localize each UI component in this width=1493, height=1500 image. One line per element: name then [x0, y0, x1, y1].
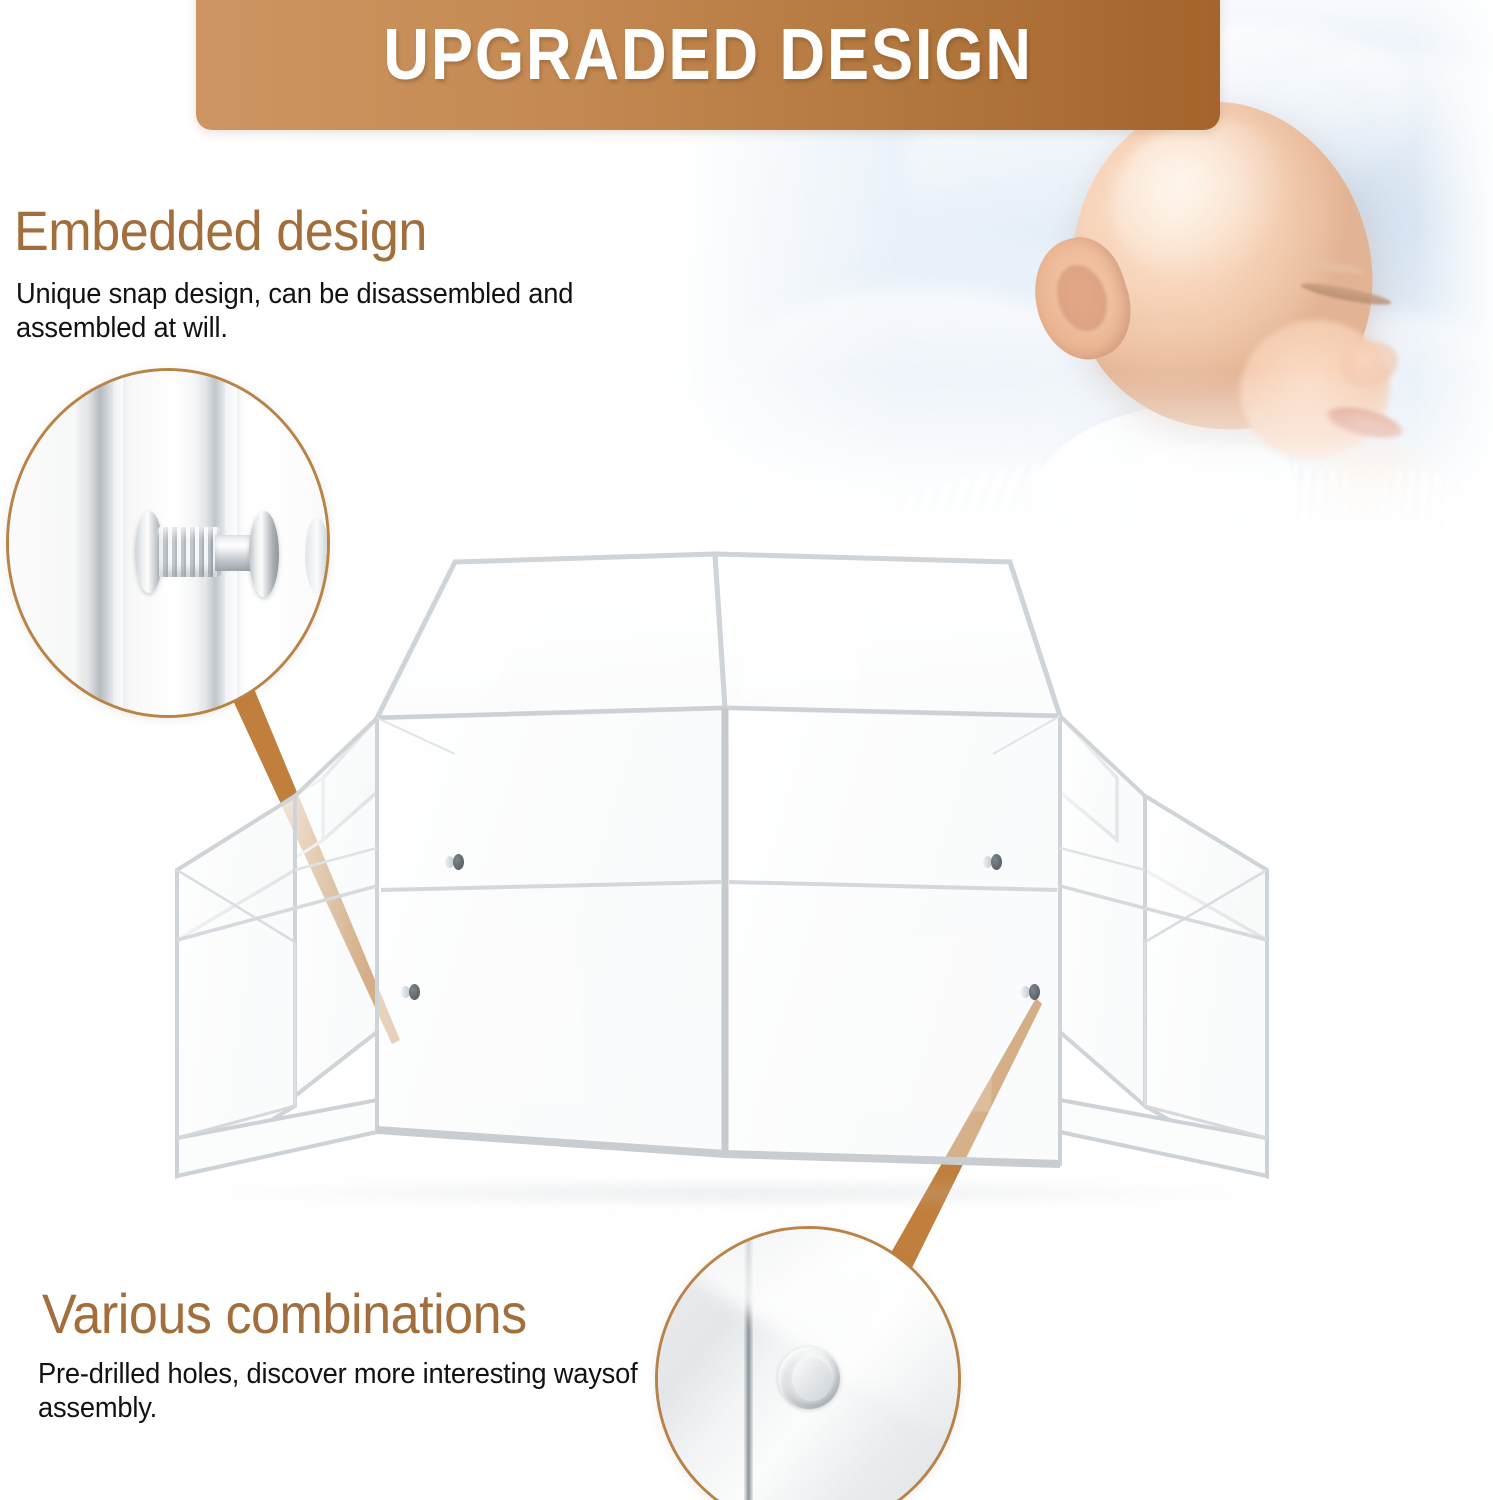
- gloss-highlight: [741, 562, 875, 702]
- section-body-various-combinations: Pre-drilled holes, discover more interes…: [38, 1358, 640, 1425]
- section-heading-various-combinations: Various combinations: [42, 1281, 527, 1346]
- product-screw-right-upper: [983, 854, 1001, 870]
- right-step-upper-face: [1060, 716, 1145, 1106]
- left-step-upper-face: [295, 718, 377, 1096]
- callout-screw-detail: [6, 368, 330, 718]
- product-screw-left-lower: [401, 984, 419, 1000]
- photo-fade-bottom: [600, 370, 1493, 550]
- section-body-embedded-design: Unique snap design, can be disassembled …: [16, 278, 599, 345]
- gloss-highlight: [405, 932, 585, 1108]
- banner-title: UPGRADED DESIGN: [383, 14, 1033, 100]
- product-screw-left-upper: [445, 854, 463, 870]
- screw-head-right: [249, 511, 279, 597]
- section-heading-embedded-design: Embedded design: [14, 198, 427, 263]
- product-screw-right-lower: [1021, 984, 1039, 1000]
- product-ground-shadow: [170, 1180, 1290, 1206]
- infographic-canvas: UPGRADED DESIGN Embedded design Unique s…: [0, 0, 1493, 1500]
- panel-edge-stripe: [87, 371, 113, 715]
- header-banner: UPGRADED DESIGN: [196, 0, 1220, 130]
- gloss-highlight: [795, 932, 995, 1112]
- panel-far-edge: [305, 517, 329, 593]
- callout-hole-detail: [655, 1226, 961, 1500]
- photo-fade-right: [1415, 0, 1493, 550]
- panel-edge-stripe: [113, 371, 123, 715]
- screw-threaded-shaft: [157, 527, 221, 577]
